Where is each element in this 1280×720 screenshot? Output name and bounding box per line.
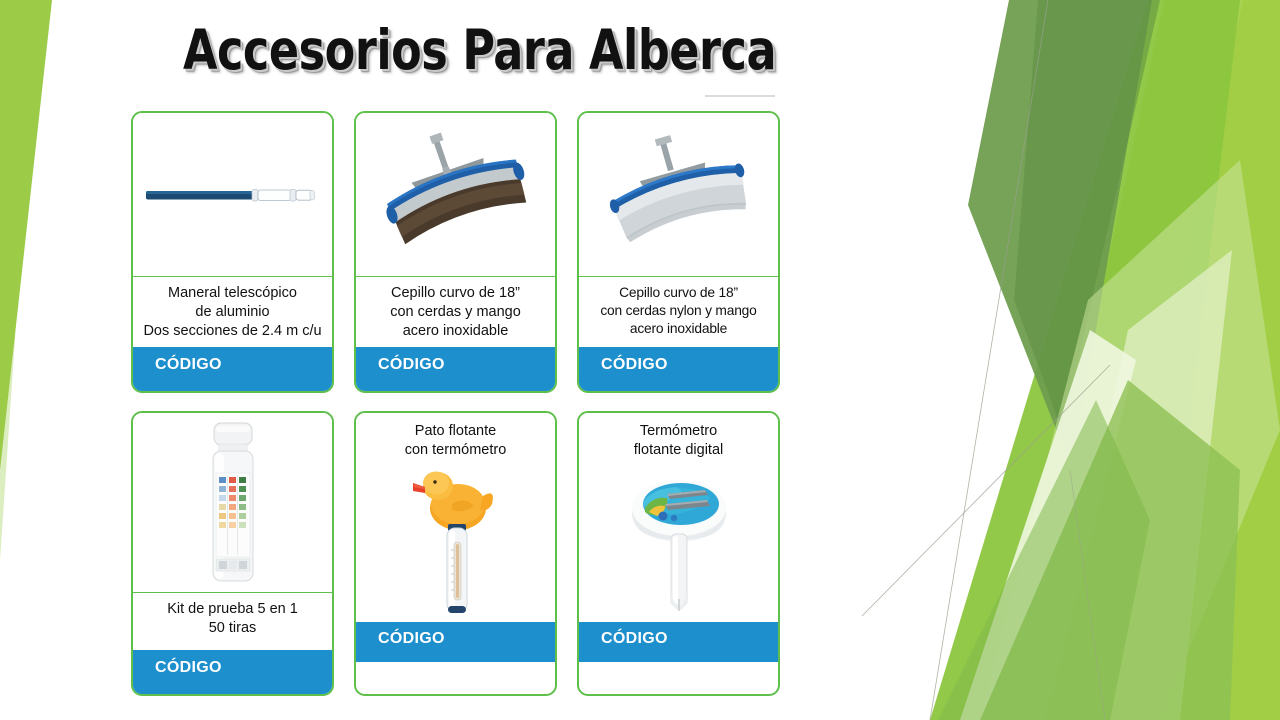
code-band[interactable]: CÓDIGO bbox=[579, 347, 778, 391]
deco-right-lime-2 bbox=[1010, 0, 1280, 720]
code-band[interactable]: CÓDIGO bbox=[133, 347, 332, 391]
deco-right-palest bbox=[960, 330, 1136, 720]
product-card-maneral-telescopico[interactable]: Maneral telescópico de aluminio Dos secc… bbox=[131, 111, 334, 393]
card-row-bottom: Kit de prueba 5 en 1 50 tiras CÓDIGO Pat… bbox=[131, 411, 781, 696]
caption-line: Cepillo curvo de 18” bbox=[583, 284, 774, 302]
deco-right-olive bbox=[968, 0, 1152, 470]
caption-line: con cerdas nylon y mango bbox=[583, 302, 774, 320]
product-card-kit-de-prueba[interactable]: Kit de prueba 5 en 1 50 tiras CÓDIGO bbox=[131, 411, 334, 696]
deco-right-lime bbox=[1088, 0, 1280, 720]
code-band[interactable]: CÓDIGO bbox=[356, 622, 555, 662]
deco-left-wedge-light bbox=[0, 0, 52, 560]
deco-right-olive-2 bbox=[1014, 0, 1160, 430]
product-card-pato-flotante[interactable]: Pato flotante con termómetro bbox=[354, 411, 557, 696]
card-caption: Termómetro flotante digital bbox=[579, 413, 778, 460]
caption-line: acero inoxidable bbox=[360, 322, 551, 341]
deco-right-pale bbox=[980, 160, 1280, 720]
product-image-telescopic-pole bbox=[133, 113, 332, 276]
product-card-termometro-flotante[interactable]: Termómetro flotante digital bbox=[577, 411, 780, 696]
product-image-curved-nylon-brush bbox=[579, 113, 778, 276]
card-caption: Cepillo curvo de 18” con cerdas nylon y … bbox=[579, 277, 778, 347]
product-image-curved-brush bbox=[356, 113, 555, 276]
caption-line: con termómetro bbox=[360, 441, 551, 460]
caption-line: de aluminio bbox=[137, 303, 328, 322]
caption-line: Kit de prueba 5 en 1 bbox=[137, 600, 328, 619]
caption-line: Dos secciones de 2.4 m c/u bbox=[137, 322, 328, 341]
deco-right-green-bright bbox=[930, 0, 1240, 720]
card-caption: Cepillo curvo de 18” con cerdas y mango … bbox=[356, 277, 555, 347]
card-caption: Pato flotante con termómetro bbox=[356, 413, 555, 460]
deco-hairline-3 bbox=[1070, 470, 1105, 720]
card-caption: Maneral telescópico de aluminio Dos secc… bbox=[133, 277, 332, 347]
deco-right-paler bbox=[1046, 250, 1232, 720]
caption-line: acero inoxidable bbox=[583, 320, 774, 338]
slide: Accesorios Para Alberca bbox=[0, 0, 1280, 720]
card-row-top: Maneral telescópico de aluminio Dos secc… bbox=[131, 111, 781, 393]
code-band[interactable]: CÓDIGO bbox=[356, 347, 555, 391]
deco-hairline-1 bbox=[930, 0, 1048, 720]
page-title: Accesorios Para Alberca bbox=[183, 18, 776, 82]
code-band[interactable]: CÓDIGO bbox=[579, 622, 778, 662]
deco-right-sweep-2 bbox=[938, 400, 1150, 720]
caption-line: 50 tiras bbox=[137, 619, 328, 638]
code-band[interactable]: CÓDIGO bbox=[133, 650, 332, 694]
caption-line: Pato flotante bbox=[360, 422, 551, 441]
caption-line: con cerdas y mango bbox=[360, 303, 551, 322]
caption-line: flotante digital bbox=[583, 441, 774, 460]
product-card-cepillo-curvo-nylon[interactable]: Cepillo curvo de 18” con cerdas nylon y … bbox=[577, 111, 780, 393]
caption-line: Termómetro bbox=[583, 422, 774, 441]
card-caption: Kit de prueba 5 en 1 50 tiras bbox=[133, 593, 332, 650]
product-card-grid: Maneral telescópico de aluminio Dos secc… bbox=[131, 111, 781, 696]
deco-hairline-2 bbox=[862, 365, 1110, 616]
deco-right-sweep bbox=[980, 380, 1240, 720]
product-card-cepillo-curvo-cerdas[interactable]: Cepillo curvo de 18” con cerdas y mango … bbox=[354, 111, 557, 393]
title-container: Accesorios Para Alberca bbox=[0, 18, 960, 82]
caption-line: Maneral telescópico bbox=[137, 284, 328, 303]
caption-line: Cepillo curvo de 18” bbox=[360, 284, 551, 303]
product-image-test-strips-bottle bbox=[133, 413, 332, 592]
